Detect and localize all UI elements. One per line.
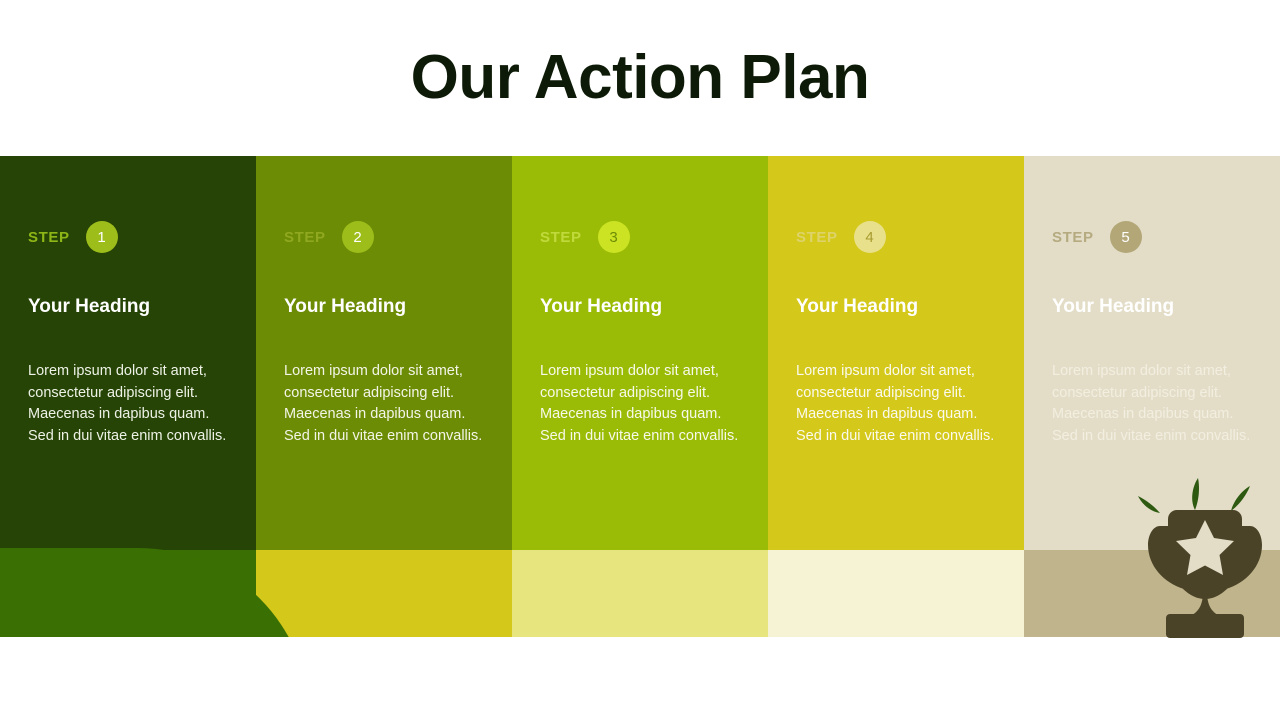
tint-column-4 [768,550,1024,637]
step-column-3[interactable]: STEP 3 Your Heading Lorem ipsum dolor si… [512,156,768,550]
step-header-3: STEP 3 [540,221,630,253]
step-body-5: Lorem ipsum dolor sit amet, consectetur … [1052,361,1252,447]
step-label-4: STEP [796,230,838,245]
step-header-2: STEP 2 [284,221,374,253]
trophy-cup [1148,510,1262,638]
step-number-badge-3: 3 [598,221,630,253]
corner-inner-white-decoration [115,637,1280,720]
step-body-4: Lorem ipsum dolor sit amet, consectetur … [796,361,996,447]
trophy-base [1166,614,1244,638]
step-heading-5: Your Heading [1052,297,1174,316]
step-column-4[interactable]: STEP 4 Your Heading Lorem ipsum dolor si… [768,156,1024,550]
title-area: Our Action Plan [0,0,1280,156]
step-label-2: STEP [284,230,326,245]
slide-canvas: Our Action Plan STEP 1 Your Heading Lore… [0,0,1280,720]
step-body-3: Lorem ipsum dolor sit amet, consectetur … [540,361,740,447]
step-label-5: STEP [1052,230,1094,245]
trophy-illustration [1120,472,1280,638]
sparkle-right-icon [1231,486,1250,511]
step-number-badge-2: 2 [342,221,374,253]
step-heading-1: Your Heading [28,297,150,316]
tint-column-2 [256,550,512,637]
step-column-1[interactable]: STEP 1 Your Heading Lorem ipsum dolor si… [0,156,256,550]
sparkle-icons [1138,478,1250,513]
step-heading-2: Your Heading [284,297,406,316]
step-header-5: STEP 5 [1052,221,1142,253]
step-number-badge-1: 1 [86,221,118,253]
step-body-1: Lorem ipsum dolor sit amet, consectetur … [28,361,228,447]
step-heading-3: Your Heading [540,297,662,316]
step-number-badge-4: 4 [854,221,886,253]
step-number-badge-5: 5 [1110,221,1142,253]
trophy-icon [1120,472,1280,638]
sparkle-middle-icon [1192,478,1199,510]
step-header-4: STEP 4 [796,221,886,253]
step-body-2: Lorem ipsum dolor sit amet, consectetur … [284,361,484,447]
step-column-2[interactable]: STEP 2 Your Heading Lorem ipsum dolor si… [256,156,512,550]
step-heading-4: Your Heading [796,297,918,316]
step-header-1: STEP 1 [28,221,118,253]
step-label-3: STEP [540,230,582,245]
page-title: Our Action Plan [411,47,870,109]
steps-row: STEP 1 Your Heading Lorem ipsum dolor si… [0,156,1280,550]
tint-column-3 [512,550,768,637]
step-label-1: STEP [28,230,70,245]
sparkle-left-icon [1138,496,1160,513]
